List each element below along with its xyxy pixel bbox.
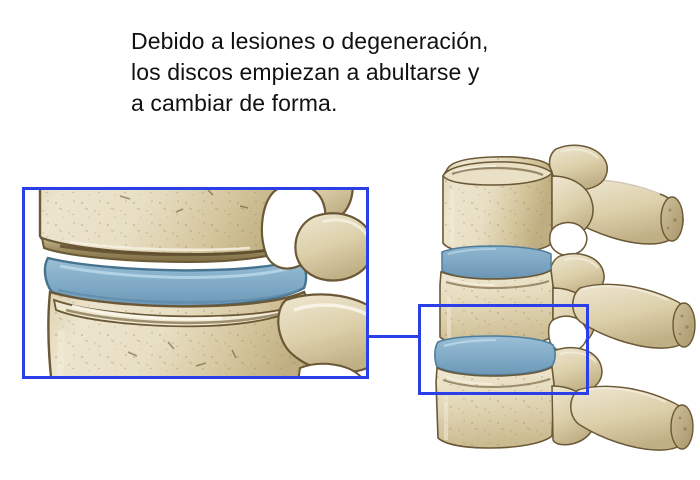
- vertebral-body-top: [443, 157, 552, 254]
- intervertebral-disc-upper: [442, 246, 551, 279]
- caption-text: Debido a lesiones o degeneración, los di…: [131, 26, 601, 119]
- illustration-canvas: Debido a lesiones o degeneración, los di…: [0, 0, 700, 480]
- source-region-frame[interactable]: [418, 304, 589, 395]
- magnified-view-frame[interactable]: [22, 187, 369, 379]
- spinous-process-middle: [573, 284, 695, 348]
- lumbar-spine-lateral: [435, 145, 695, 450]
- spinous-process-bottom: [571, 386, 693, 450]
- intervertebral-foramen-top: [550, 223, 587, 256]
- callout-connector-line: [366, 335, 421, 338]
